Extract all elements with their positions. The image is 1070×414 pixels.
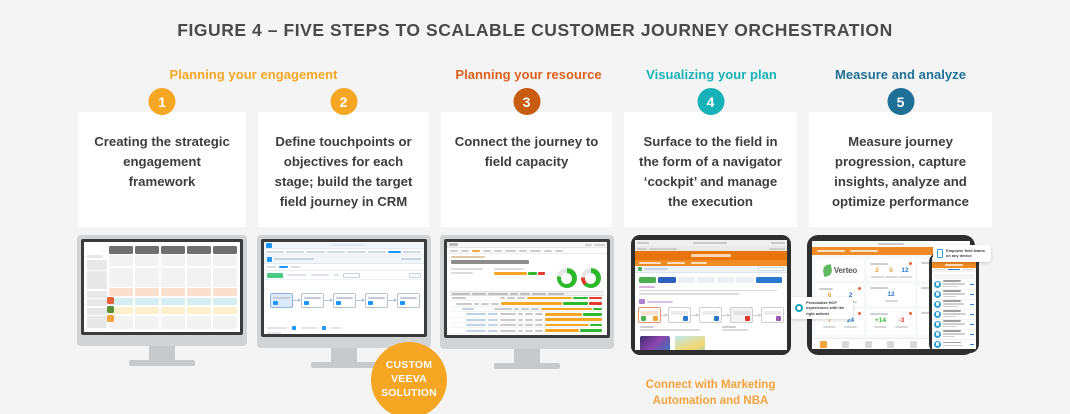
monitor-base — [494, 363, 560, 369]
monitor-base — [129, 360, 195, 366]
list-item[interactable] — [932, 280, 976, 290]
flow-node[interactable] — [761, 307, 784, 323]
chevron-right-icon — [970, 304, 974, 305]
nav-icon[interactable] — [865, 341, 872, 348]
step-number: 5 — [897, 94, 905, 110]
nav-icon[interactable] — [842, 341, 849, 348]
target-icon — [795, 304, 803, 312]
flow-node[interactable] — [730, 307, 753, 323]
monitor-base — [311, 362, 377, 368]
flow-connector — [293, 300, 302, 301]
step-card-5: Measure journey progression, capture ins… — [809, 112, 992, 227]
matrix-column — [213, 246, 237, 329]
phone-device — [929, 253, 979, 353]
flow-node[interactable] — [333, 293, 356, 308]
kpi-tile[interactable]: 12 — [867, 284, 915, 306]
flow-connector — [691, 315, 699, 316]
flow-node[interactable] — [397, 293, 420, 308]
list-item[interactable] — [932, 300, 976, 310]
breadcrumb[interactable] — [451, 256, 485, 258]
step-column-4: 4 Surface to the field in the form of a … — [618, 62, 803, 414]
metadata-block — [635, 326, 787, 336]
kpi-value: 12 — [885, 291, 898, 299]
chevron-right-icon — [970, 334, 974, 335]
engagement-matrix-table-screenshot — [84, 242, 240, 332]
step-mockup-3 — [435, 235, 618, 414]
desktop-monitor — [440, 235, 614, 369]
list-item[interactable] — [932, 320, 976, 330]
kpi-value: -3 — [895, 317, 908, 325]
journey-flow[interactable] — [635, 307, 787, 326]
flow-node[interactable] — [301, 293, 324, 308]
step-badge-5: 5 — [887, 88, 914, 115]
step-mockup-4: Connect with Marketing Automation and NB… — [618, 235, 803, 414]
list-item[interactable] — [932, 330, 976, 340]
crm-journey-flow-builder-screenshot — [264, 242, 424, 334]
thumbnail-image — [675, 336, 705, 350]
step-mockup-1 — [72, 235, 252, 414]
step-card-1: Creating the strategic engagement framew… — [78, 112, 246, 227]
utilization-progress — [491, 268, 545, 275]
thumbnail-image — [640, 336, 670, 350]
stage-button-row[interactable] — [635, 273, 787, 286]
primary-action-button[interactable] — [756, 277, 782, 283]
avatar — [934, 311, 941, 318]
alert-dot-icon — [909, 262, 912, 265]
step-number: 3 — [523, 94, 531, 110]
step-number: 1 — [158, 94, 166, 110]
section-header — [635, 299, 787, 307]
flow-connector — [356, 300, 365, 301]
step-description: Define touchpoints or objectives for eac… — [268, 132, 419, 212]
matrix-column — [135, 246, 159, 329]
matrix-column — [187, 246, 211, 329]
flow-connector — [753, 315, 761, 316]
step-description: Connect the journey to field capacity — [451, 132, 602, 172]
alert-dot-icon — [909, 312, 912, 315]
chevron-right-icon — [970, 294, 974, 295]
step-description: Creating the strategic engagement framew… — [88, 132, 236, 192]
list-item[interactable] — [932, 310, 976, 320]
kpi-value: 5 — [885, 267, 898, 275]
alert-dot-icon — [858, 312, 861, 315]
flow-node[interactable] — [365, 293, 388, 308]
donut-gauge — [581, 268, 601, 288]
kpi-tile[interactable]: 2 5 12 — [867, 259, 915, 281]
chevron-right-icon — [970, 314, 974, 315]
step-card-3: Connect the journey to field capacity — [441, 112, 612, 227]
leaf-logo-icon — [822, 264, 833, 277]
tablet-device — [631, 235, 791, 355]
field-capacity-dashboard-screenshot — [447, 242, 607, 335]
flow-node[interactable] — [270, 293, 293, 308]
description-block — [635, 286, 787, 299]
flow-connector — [661, 315, 669, 316]
page-title: FIGURE 4 – FIVE STEPS TO SCALABLE CUSTOM… — [0, 20, 1070, 41]
step-column-5: 5 Measure journey progression, capture i… — [803, 62, 998, 414]
monitor-stand — [514, 349, 540, 363]
brand-name: Verteo — [834, 266, 857, 275]
thumbnail-item[interactable] — [640, 336, 670, 350]
desktop-monitor — [77, 235, 247, 366]
callout-personalize-hcp: Personalize HCP experiences with the rig… — [791, 297, 853, 319]
filter-group[interactable] — [451, 268, 491, 274]
brand-icon — [638, 267, 642, 271]
gauge-group — [545, 268, 603, 288]
section-icon — [639, 299, 645, 304]
matrix-row-labels — [87, 246, 107, 329]
record-icon — [267, 257, 272, 262]
stage-button[interactable] — [736, 277, 754, 283]
kpi-value: 12 — [899, 267, 912, 275]
flow-node-current[interactable] — [638, 307, 661, 323]
kpi-value: 2 — [871, 267, 884, 275]
chevron-right-icon — [970, 344, 974, 345]
avatar — [934, 281, 941, 288]
step-description: Measure journey progression, capture ins… — [819, 132, 982, 212]
app-logo-icon — [449, 243, 458, 246]
app-header — [264, 242, 424, 249]
table-row[interactable] — [450, 334, 604, 335]
picklist[interactable] — [409, 273, 421, 278]
avatar — [934, 301, 941, 308]
caption-step4: Connect with Marketing Automation and NB… — [618, 378, 803, 410]
tab-bar[interactable] — [932, 268, 976, 272]
callout-text: Personalize HCP experiences with the rig… — [806, 300, 849, 316]
record-header — [264, 255, 424, 264]
monitor-stand — [149, 346, 175, 360]
persona-icon — [107, 297, 114, 304]
search-input[interactable] — [758, 267, 784, 271]
flow-node[interactable] — [699, 307, 722, 323]
callout-empower-field-teams: Empower field teams on any device — [933, 245, 991, 262]
dashboard-title — [451, 260, 529, 264]
step-number: 4 — [707, 94, 715, 110]
alert-dot-icon — [858, 287, 861, 290]
subheader — [635, 266, 787, 273]
app-logo-icon — [266, 243, 272, 248]
hcp-contact-list-screenshot — [932, 257, 976, 349]
utilization-table — [447, 291, 607, 335]
detail-panel — [264, 324, 424, 334]
step-column-1: 1 Creating the strategic engagement fram… — [72, 62, 252, 414]
avatar — [934, 341, 941, 348]
nav-icon[interactable] — [887, 341, 894, 348]
step-number: 2 — [340, 94, 348, 110]
list-item[interactable] — [932, 340, 976, 349]
step-card-4: Surface to the field in the form of a na… — [624, 112, 797, 227]
step-description: Surface to the field in the form of a na… — [634, 132, 787, 212]
step-mockup-5: Verteo 2 5 12 — [803, 235, 998, 414]
stage-button-active[interactable] — [639, 277, 657, 283]
content-thumbnails[interactable] — [635, 336, 787, 350]
figure-container: FIGURE 4 – FIVE STEPS TO SCALABLE CUSTOM… — [0, 0, 1070, 414]
status-pill — [267, 273, 283, 278]
step-card-2: Define touchpoints or objectives for eac… — [258, 112, 429, 227]
stage-button[interactable] — [678, 277, 696, 283]
app-title-bar — [635, 251, 787, 260]
step-badge-2: 2 — [330, 88, 357, 115]
avatar — [934, 321, 941, 328]
step-badge-4: 4 — [697, 88, 724, 115]
veeva-badge-label: CUSTOM VEEVA SOLUTION — [371, 359, 447, 401]
matrix-column — [161, 246, 185, 329]
flow-canvas[interactable] — [264, 280, 424, 324]
avatar — [934, 331, 941, 338]
step-column-3: 3 Connect the journey to field capacity — [435, 62, 618, 414]
flow-connector — [722, 315, 730, 316]
kpi-tile[interactable]: +14 -3 — [867, 309, 915, 335]
kpi-value: +14 — [874, 317, 887, 325]
stage-button[interactable] — [697, 277, 715, 283]
monitor-stand — [331, 348, 357, 362]
donut-gauge — [557, 268, 577, 288]
flow-connector — [388, 300, 397, 301]
mobile-device-icon — [937, 249, 943, 258]
stage-button[interactable] — [658, 277, 676, 283]
avatar — [934, 291, 941, 298]
flow-node[interactable] — [668, 307, 691, 323]
step-mockup-2: CUSTOM VEEVA SOLUTION — [252, 235, 435, 414]
tab-bar[interactable] — [264, 264, 424, 271]
step-column-2: 2 Define touchpoints or objectives for e… — [252, 62, 435, 414]
brand-tile: Verteo — [816, 259, 864, 281]
thumbnail-item[interactable] — [675, 336, 705, 350]
nav-icon[interactable] — [910, 341, 917, 348]
persona-icon — [107, 315, 114, 322]
dashboard-heading — [447, 254, 607, 266]
callout-text: Empower field teams on any device — [946, 248, 987, 259]
custom-veeva-solution-badge: CUSTOM VEEVA SOLUTION — [371, 342, 447, 414]
caption-text: Connect with Marketing Automation and NB… — [646, 379, 776, 407]
steps-row: 1 Creating the strategic engagement fram… — [72, 62, 998, 414]
persona-icon — [107, 306, 114, 313]
step-badge-1: 1 — [149, 88, 176, 115]
toolbar[interactable] — [264, 271, 424, 280]
stage-button[interactable] — [717, 277, 735, 283]
chevron-right-icon — [970, 324, 974, 325]
picklist[interactable] — [343, 273, 360, 278]
flow-connector — [324, 300, 333, 301]
list-item[interactable] — [932, 290, 976, 300]
step-badge-3: 3 — [513, 88, 540, 115]
chevron-right-icon — [970, 284, 974, 285]
nav-icon[interactable] — [820, 341, 827, 348]
search-input[interactable] — [934, 274, 975, 279]
